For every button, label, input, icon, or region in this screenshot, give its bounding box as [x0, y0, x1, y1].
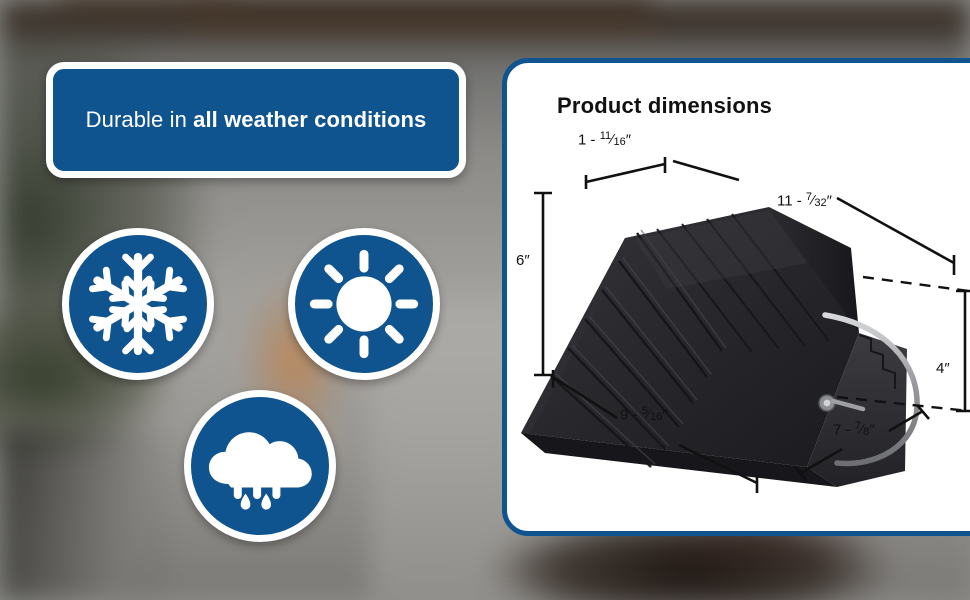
weather-badge-rain	[184, 390, 336, 542]
dimension-label-base: 9 - 5⁄16″	[620, 406, 668, 424]
background-top-band	[190, 0, 650, 40]
dimension-label-length: 11 - 7⁄32″	[777, 192, 832, 210]
marketing-banner-image: Durable in all weather conditions	[0, 0, 970, 600]
dimension-base-whole: 9 -	[620, 407, 642, 424]
background-top-band-left	[60, 0, 230, 20]
dimension-depth-fraction: 7⁄8	[855, 420, 870, 438]
headline-text-normal: Durable in	[86, 107, 194, 132]
dimension-depth-unit: ″	[869, 422, 874, 439]
dimension-length-fraction: 7⁄32	[806, 191, 827, 209]
background-dark-strip	[0, 430, 170, 600]
dimension-label-height: 6″	[516, 252, 530, 269]
product-dimensions-card: Product dimensions	[502, 58, 970, 536]
headline-banner: Durable in all weather conditions	[46, 62, 466, 178]
dimension-base-fraction: 5⁄16	[642, 405, 663, 423]
dimension-base-unit: ″	[662, 407, 667, 424]
dimension-length-unit: ″	[827, 193, 832, 210]
chock-body	[521, 207, 907, 487]
product-diagram	[507, 63, 970, 536]
headline-text: Durable in all weather conditions	[86, 107, 427, 133]
headline-text-bold: all weather conditions	[193, 107, 426, 132]
dimension-width-unit: ″	[626, 132, 631, 149]
weather-badge-sun	[288, 228, 440, 380]
dimension-length-whole: 11 -	[777, 193, 806, 210]
weather-badge-snow	[62, 228, 214, 380]
dimension-depth-whole: 7 -	[833, 422, 855, 439]
dimension-label-width: 1 - 11⁄16″	[578, 131, 631, 149]
dimension-label-depth: 7 - 7⁄8″	[833, 421, 875, 439]
dimension-width-whole: 1 -	[578, 132, 600, 149]
snowflake-icon	[69, 235, 207, 373]
dimension-label-thickness: 4″	[936, 360, 950, 377]
sun-icon	[295, 235, 433, 373]
rain-cloud-icon	[191, 397, 329, 535]
wheel-chock-illustration	[507, 63, 970, 536]
dimension-width-fraction: 11⁄16	[600, 130, 626, 148]
